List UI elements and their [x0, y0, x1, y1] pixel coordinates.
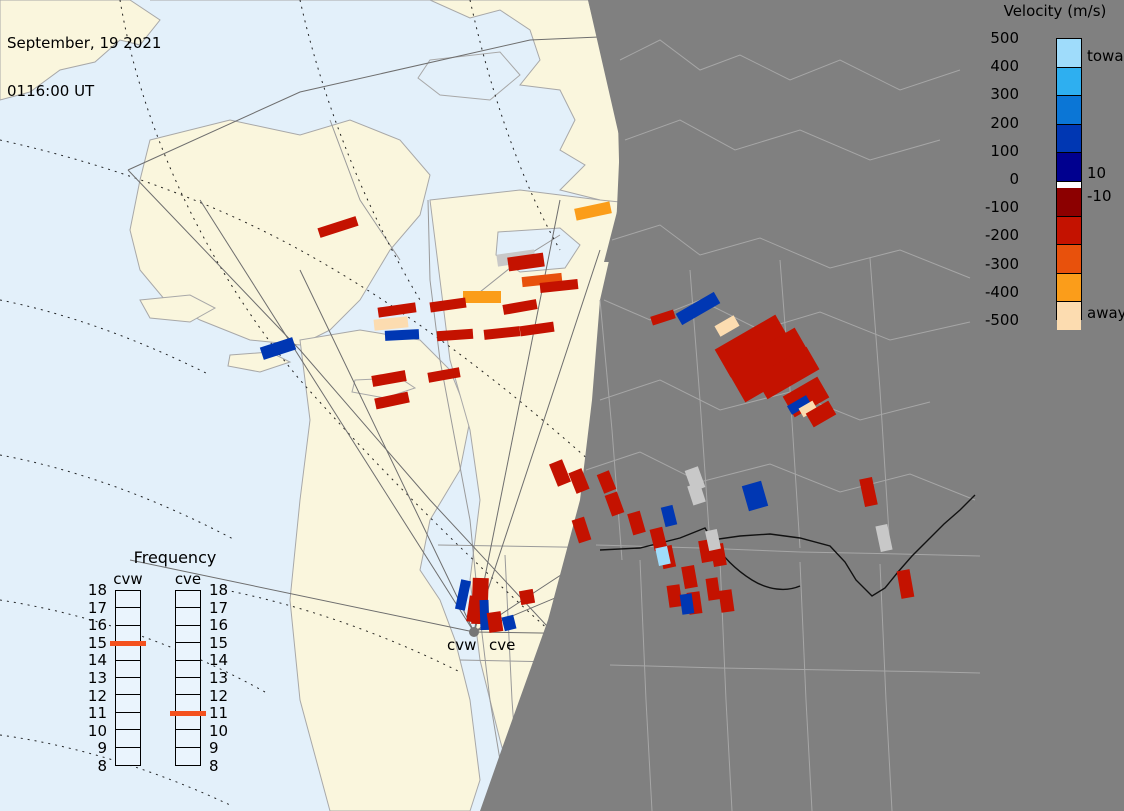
colorbar-segment-toward: [1057, 125, 1081, 154]
colorbar-segment-away: [1057, 302, 1081, 330]
frequency-tick-label: 10: [81, 722, 107, 740]
colorbar-positive-threshold-label: 10: [1087, 164, 1106, 182]
frequency-tick-label: 13: [209, 669, 228, 687]
colorbar-segment-away: [1057, 245, 1081, 274]
colorbar-tick-label: -100: [985, 198, 1019, 216]
colorbar-away-label: away: [1087, 304, 1124, 322]
frequency-tick-label: 9: [209, 739, 219, 757]
velocity-cell[interactable]: [463, 291, 501, 303]
velocity-colorbar-panel: Velocity (m/s) 5004003002001000-100-200-…: [980, 0, 1124, 811]
colorbar-tick-label: 400: [990, 57, 1019, 75]
colorbar-segment-toward: [1057, 68, 1081, 97]
frequency-tick-label: 14: [81, 651, 107, 669]
timestamp: September, 19 2021 0116:00 UT: [7, 3, 161, 131]
site-label-cve: cve: [489, 636, 515, 654]
frequency-bar-cell: [176, 626, 200, 643]
colorbar-segment-away: [1057, 217, 1081, 246]
colorbar-tick-label: 500: [990, 29, 1019, 47]
velocity-cell[interactable]: [519, 589, 535, 605]
colorbar-title: Velocity (m/s): [986, 2, 1124, 20]
frequency-bar-cell: [176, 661, 200, 678]
frequency-bar-name-cve: cve: [163, 570, 213, 588]
frequency-tick-label: 11: [81, 704, 107, 722]
frequency-bar-cell: [176, 608, 200, 625]
frequency-marker-cve: [170, 711, 206, 716]
colorbar-tick-label: -200: [985, 226, 1019, 244]
frequency-bar-cvw[interactable]: [115, 590, 141, 766]
frequency-tick-label: 16: [209, 616, 228, 634]
frequency-bar-cell: [116, 661, 140, 678]
frequency-bar-cve[interactable]: [175, 590, 201, 766]
frequency-bar-cell: [116, 608, 140, 625]
frequency-bar-cell: [116, 713, 140, 730]
frequency-bar-cell: [116, 730, 140, 747]
site-label-cvw: cvw: [447, 636, 476, 654]
frequency-bar-cell: [116, 591, 140, 608]
frequency-tick-label: 8: [81, 757, 107, 775]
colorbar-toward-label: toward: [1087, 47, 1124, 65]
colorbar-tick-label: -300: [985, 255, 1019, 273]
timestamp-date: September, 19 2021: [7, 35, 161, 51]
frequency-marker-cvw: [110, 641, 146, 646]
frequency-tick-label: 12: [81, 687, 107, 705]
colorbar-tick-label: 200: [990, 114, 1019, 132]
frequency-bar-cell: [176, 643, 200, 660]
frequency-bar-cell: [176, 730, 200, 747]
colorbar-tick-label: 300: [990, 85, 1019, 103]
frequency-tick-label: 12: [209, 687, 228, 705]
frequency-tick-label: 13: [81, 669, 107, 687]
frequency-legend: Frequency cvw18171615141312111098cve1817…: [85, 548, 320, 783]
velocity-cell[interactable]: [385, 329, 419, 341]
frequency-tick-label: 8: [209, 757, 219, 775]
colorbar-tick-label: -400: [985, 283, 1019, 301]
frequency-bar-cell: [176, 591, 200, 608]
frequency-bar-cell: [116, 678, 140, 695]
velocity-cell[interactable]: [487, 611, 504, 633]
frequency-bar-cell: [176, 695, 200, 712]
colorbar-gradient: [1056, 38, 1082, 320]
colorbar-tick-label: -500: [985, 311, 1019, 329]
map-canvas[interactable]: September, 19 2021 0116:00 UT Frequency …: [0, 0, 980, 811]
frequency-legend-title: Frequency: [85, 548, 265, 567]
frequency-bar-name-cvw: cvw: [103, 570, 153, 588]
frequency-tick-label: 11: [209, 704, 228, 722]
frequency-tick-label: 15: [81, 634, 107, 652]
frequency-tick-label: 18: [81, 581, 107, 599]
frequency-tick-label: 9: [81, 739, 107, 757]
colorbar-negative-threshold-label: -10: [1087, 187, 1112, 205]
frequency-bar-cell: [116, 748, 140, 765]
frequency-tick-label: 18: [209, 581, 228, 599]
frequency-tick-label: 14: [209, 651, 228, 669]
colorbar-tick-label: 100: [990, 142, 1019, 160]
frequency-bar-cell: [176, 748, 200, 765]
frequency-tick-label: 10: [209, 722, 228, 740]
colorbar-tick-label: 0: [1009, 170, 1019, 188]
superdarn-map-window: September, 19 2021 0116:00 UT Frequency …: [0, 0, 1124, 811]
colorbar-segment-away: [1057, 274, 1081, 303]
colorbar-segment-toward: [1057, 39, 1081, 68]
frequency-bar-cell: [116, 695, 140, 712]
frequency-tick-label: 17: [209, 599, 228, 617]
frequency-tick-label: 16: [81, 616, 107, 634]
frequency-bar-cell: [176, 678, 200, 695]
timestamp-time: 0116:00 UT: [7, 83, 161, 99]
frequency-tick-label: 17: [81, 599, 107, 617]
colorbar-segment-away: [1057, 188, 1081, 217]
frequency-tick-label: 15: [209, 634, 228, 652]
colorbar-segment-toward: [1057, 153, 1081, 182]
colorbar-segment-toward: [1057, 96, 1081, 125]
